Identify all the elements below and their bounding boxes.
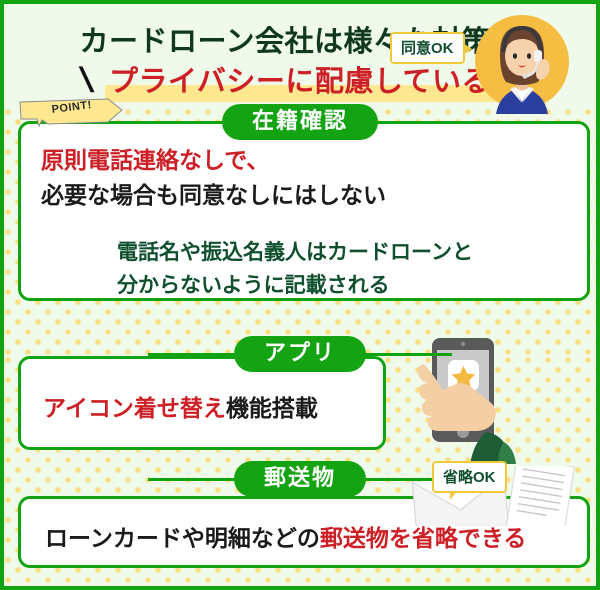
- section-badge-row-3: 郵送物: [4, 461, 596, 497]
- card1-line2: 必要な場合も同意なしにはしない: [41, 176, 386, 210]
- card-employment-verification: 原則電話連絡なしで、 必要な場合も同意なしにはしない 電話名や振込名義人はカード…: [18, 121, 590, 301]
- bubble-agree-ok: 同意OK: [390, 32, 465, 64]
- point-ribbon: POINT!: [18, 97, 126, 127]
- badge-rule-right-2: [366, 353, 452, 356]
- card2-line1: アイコン着せ替え機能搭載: [43, 389, 318, 423]
- badge-rule-left-1: [136, 121, 222, 124]
- card1-line3: 電話名や振込名義人はカードローンと: [117, 236, 473, 266]
- section-badge-1: 在籍確認: [222, 104, 378, 139]
- badge-rule-left-2: [148, 353, 234, 356]
- card3-line1-dark: ローンカードや明細などの: [45, 525, 320, 551]
- section-badge-row-2: アプリ: [4, 336, 596, 372]
- operator-with-headset-icon: 同意OK: [470, 10, 574, 114]
- infographic-root: カードローン会社は様々な対策で \ プライバシーに配慮している / 在籍確認 原…: [0, 0, 600, 590]
- section-badge-3: 郵送物: [234, 461, 366, 496]
- badge-rule-left-3: [148, 478, 234, 481]
- card1-line1: 原則電話連絡なしで、: [41, 141, 269, 175]
- section-badge-2: アプリ: [234, 336, 366, 371]
- header-title-line2: プライバシーに配慮している: [105, 58, 495, 100]
- card1-line4: 分からないように記載される: [117, 269, 390, 299]
- bubble-omit-ok: 省略OK: [432, 461, 507, 493]
- badge-rule-right-1: [378, 121, 464, 124]
- slash-left-decoration: \: [77, 62, 96, 97]
- card3-line1-red: 郵送物を省略できる: [320, 525, 527, 551]
- card2-line1-red: アイコン着せ替え: [43, 395, 226, 421]
- card2-line1-dark: 機能搭載: [226, 395, 318, 421]
